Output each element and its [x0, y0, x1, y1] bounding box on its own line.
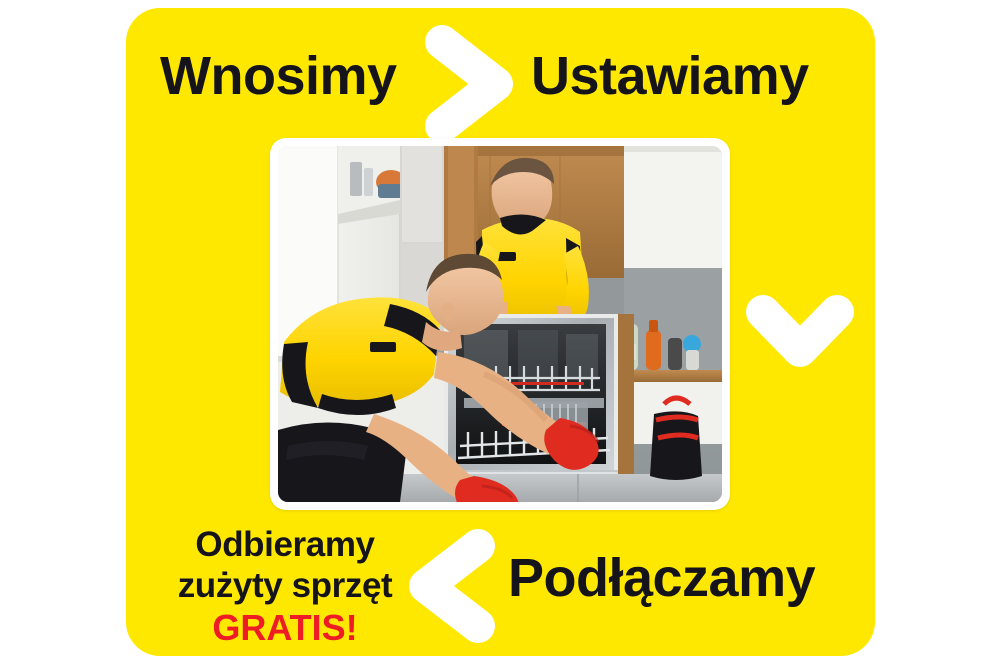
- chevron-left-icon: [400, 528, 504, 644]
- step-label-podlaczamy: Podłączamy: [508, 550, 815, 606]
- promo-banner-canvas: Wnosimy Ustawiamy: [0, 0, 1000, 671]
- odbieramy-line-3-gratis: GRATIS!: [160, 607, 410, 649]
- step-label-odbieramy-block: Odbieramy zużyty sprzęt GRATIS!: [160, 524, 410, 649]
- step-label-ustawiamy: Ustawiamy: [531, 48, 809, 104]
- installation-photo: [278, 146, 722, 502]
- odbieramy-line-1: Odbieramy: [160, 524, 410, 565]
- odbieramy-line-2: zużyty sprzęt: [160, 565, 410, 606]
- chevron-right-icon: [418, 22, 522, 146]
- chevron-down-icon: [745, 292, 855, 374]
- step-label-wnosimy: Wnosimy: [160, 48, 397, 104]
- installation-photo-card: [270, 138, 730, 510]
